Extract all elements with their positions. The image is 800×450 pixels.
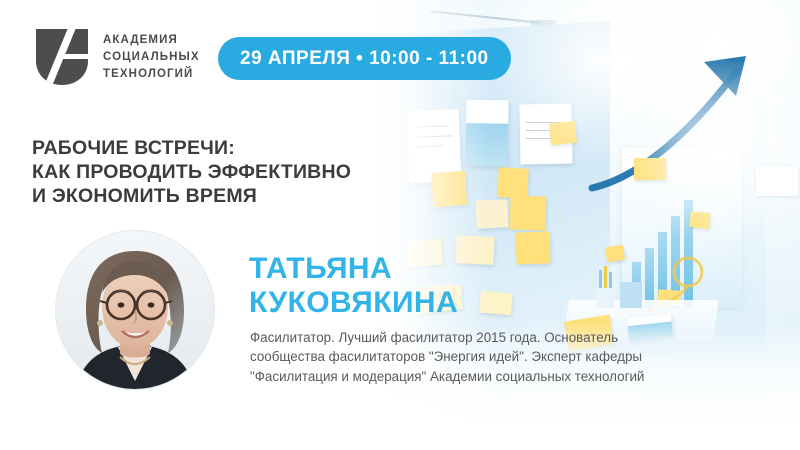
sticky-note <box>497 167 529 199</box>
page-title: РАБОЧИЕ ВСТРЕЧИ: КАК ПРОВОДИТЬ ЭФФЕКТИВН… <box>32 136 351 208</box>
speaker-portrait-icon <box>56 231 214 389</box>
brand-logo[interactable]: АКАДЕМИЯ СОЦИАЛЬНЫХ ТЕХНОЛОГИЙ <box>34 27 200 87</box>
sticky-note <box>549 121 577 146</box>
speaker-avatar <box>56 231 214 389</box>
wall-poster <box>756 166 798 196</box>
sticky-note <box>605 245 625 262</box>
speaker-bio: Фасилитатор. Лучший фасилитатор 2015 год… <box>250 328 670 386</box>
pen-icon <box>604 266 607 288</box>
pen-icon <box>609 272 612 288</box>
growth-arrow-icon <box>586 38 766 198</box>
webinar-banner: АКАДЕМИЯ СОЦИАЛЬНЫХ ТЕХНОЛОГИЙ 29 АПРЕЛЯ… <box>0 0 800 450</box>
sticky-note <box>509 195 546 230</box>
pen-icon <box>599 270 602 288</box>
sticky-note <box>634 158 666 180</box>
sticky-note <box>689 211 711 229</box>
speaker-name: ТАТЬЯНА КУКОВЯКИНА <box>249 252 458 320</box>
date-time-badge[interactable]: 29 АПРЕЛЯ • 10:00 - 11:00 <box>218 37 511 80</box>
book-icon <box>620 282 642 308</box>
sticky-note <box>515 231 550 264</box>
brand-logo-text: АКАДЕМИЯ СОЦИАЛЬНЫХ ТЕХНОЛОГИЙ <box>103 32 200 83</box>
shield-slash-logo-icon <box>34 27 90 87</box>
